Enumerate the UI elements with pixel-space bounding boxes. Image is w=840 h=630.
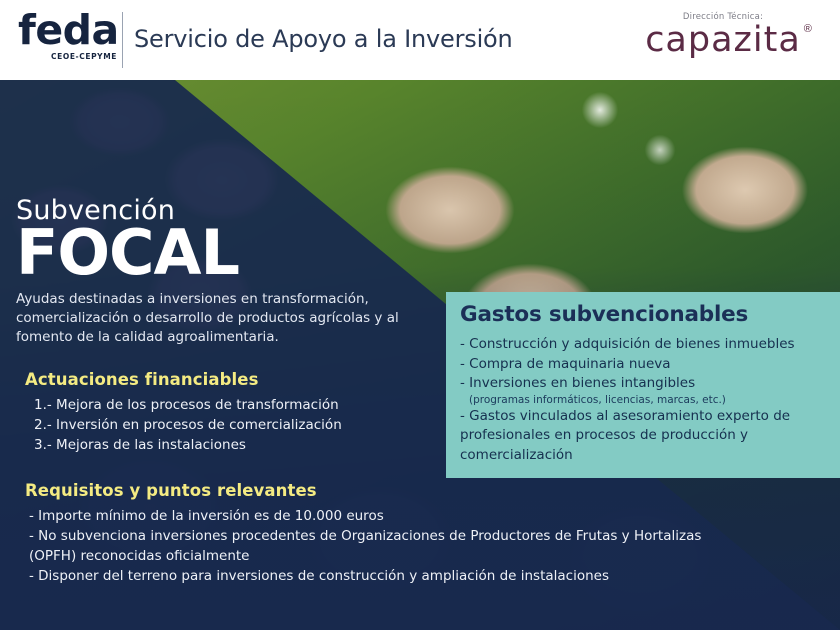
header-bar: feda CEOE-CEPYME Servicio de Apoyo a la … — [0, 0, 840, 80]
list-item: 3.- Mejoras de las instalaciones — [34, 435, 445, 455]
gastos-heading: Gastos subvencionables — [460, 302, 828, 328]
hero-description: Ayudas destinadas a inversiones en trans… — [16, 290, 416, 347]
list-item: - Importe mínimo de la inversión es de 1… — [29, 506, 725, 526]
requisitos-list: - Importe mínimo de la inversión es de 1… — [25, 506, 725, 586]
list-item: - Compra de maquinaria nueva — [460, 355, 828, 375]
feda-logo: feda CEOE-CEPYME — [18, 10, 118, 70]
actuaciones-list: 1.- Mejora de los procesos de transforma… — [25, 395, 445, 455]
capazita-logo: Dirección Técnica: capazita ® — [628, 12, 818, 59]
list-item: - Inversiones en bienes intangibles — [460, 374, 828, 394]
feda-wordmark: feda — [18, 10, 118, 51]
gastos-subvencionables-panel: Gastos subvencionables - Construcción y … — [446, 292, 840, 478]
hero-title: FOCAL — [16, 224, 446, 282]
list-item: 1.- Mejora de los procesos de transforma… — [34, 395, 445, 415]
header-title: Servicio de Apoyo a la Inversión — [134, 25, 513, 53]
list-item: - Gastos vinculados al asesoramiento exp… — [460, 407, 828, 466]
registered-trademark-icon: ® — [804, 23, 812, 35]
list-item: 2.- Inversión en procesos de comercializ… — [34, 415, 445, 435]
list-item: - No subvenciona inversiones procedentes… — [29, 526, 725, 566]
actuaciones-heading: Actuaciones financiables — [25, 370, 445, 389]
requisitos-section: Requisitos y puntos relevantes - Importe… — [25, 481, 725, 586]
capazita-brand-text: capazita — [645, 20, 801, 60]
poster-root: feda CEOE-CEPYME Servicio de Apoyo a la … — [0, 0, 840, 630]
capazita-brand-row: capazita ® — [645, 21, 801, 59]
gastos-list: - Construcción y adquisición de bienes i… — [460, 335, 828, 465]
list-item: - Disponer del terreno para inversiones … — [29, 566, 725, 586]
hero-copy-block: Subvención FOCAL Ayudas destinadas a inv… — [16, 196, 446, 347]
gastos-intangibles-note: (programas informáticos, licencias, marc… — [460, 394, 828, 407]
actuaciones-section: Actuaciones financiables 1.- Mejora de l… — [25, 370, 445, 455]
list-item: - Construcción y adquisición de bienes i… — [460, 335, 828, 355]
requisitos-heading: Requisitos y puntos relevantes — [25, 481, 725, 500]
header-divider — [122, 12, 123, 68]
